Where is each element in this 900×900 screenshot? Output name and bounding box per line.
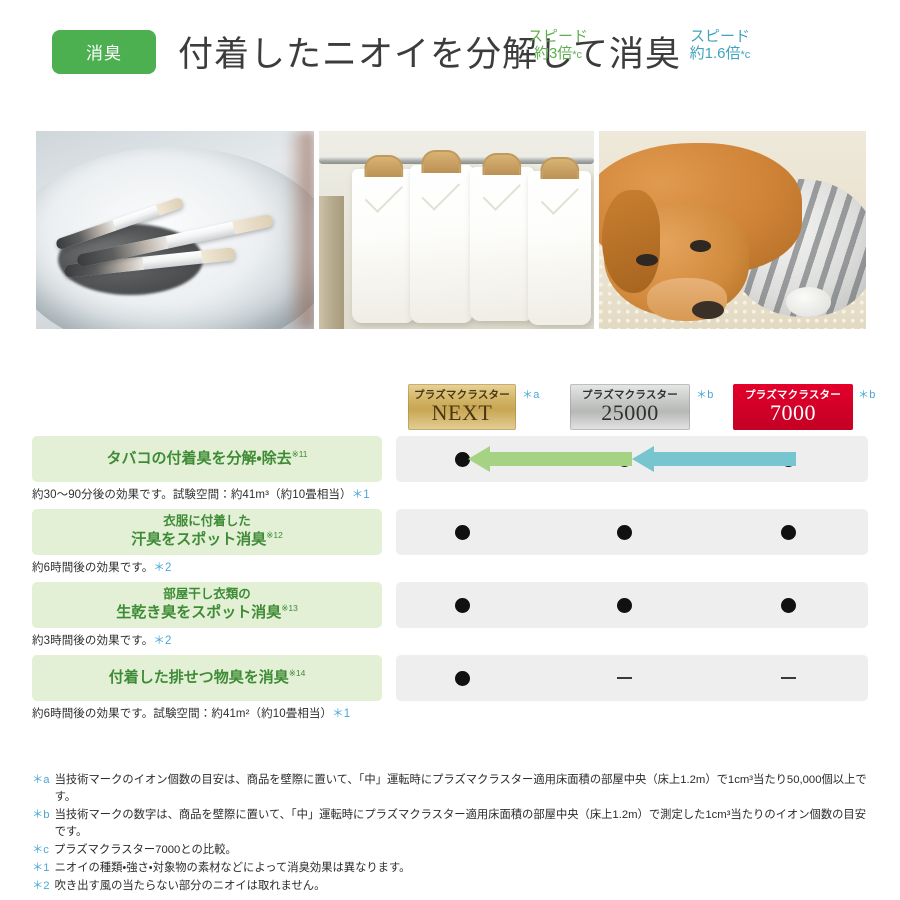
footnote-item: ＊c プラズマクラスター7000との比較。 [32, 842, 877, 859]
photo-edge-blur [286, 131, 314, 329]
speed-label-green: スピード 約3倍*c [498, 28, 618, 63]
footnote-mark: ＊c [32, 842, 49, 859]
cell-next [432, 655, 492, 701]
table-header-row: プラズマクラスター NEXT ＊a プラズマクラスター 25000 ＊b プラズ… [0, 380, 900, 436]
row-note-tobacco: 約30～90分後の効果です。試験空間：約41m³（約10畳相当）＊1 [32, 482, 900, 507]
product-badge-main: NEXT [432, 401, 493, 424]
footnote-item: ＊a 当技術マークのイオン個数の目安は、商品を壁際に置いて、「中」運転時にプラズ… [32, 772, 877, 806]
product-badge-25000: プラズマクラスター 25000 [570, 384, 690, 430]
footnote-item: ＊1 ニオイの種類・強さ・対象物の素材などによって消臭効果は異なります。 [32, 860, 877, 877]
table-row: 部屋干し衣類の 生乾き臭をスポット消臭※13 約3時間後の効果です。＊2 [0, 582, 900, 653]
support-dot-icon [617, 598, 632, 613]
row-note-damp-laundry: 約3時間後の効果です。＊2 [32, 628, 900, 653]
row-label-text: 付着した排せつ物臭を消臭※14 [109, 668, 306, 688]
product-badge-main: 7000 [770, 401, 816, 424]
footnote-text: ニオイの種類・強さ・対象物の素材などによって消臭効果は異なります。 [55, 860, 877, 877]
speed-label-blue: スピード 約1.6倍*c [660, 28, 780, 63]
row-cells [396, 655, 868, 701]
product-badge-next: プラズマクラスター NEXT [408, 384, 516, 430]
footnote-text: 当技術マークのイオン個数の目安は、商品を壁際に置いて、「中」運転時にプラズマクラ… [55, 772, 877, 806]
row-label-text: タバコの付着臭を分解・除去※11 [106, 449, 307, 469]
footnote-mark: ＊2 [32, 878, 50, 895]
product-badge-main: 25000 [601, 401, 659, 424]
photo-white-shirts-on-hangers [319, 131, 594, 329]
support-dot-icon [455, 452, 470, 467]
shirt-icon [528, 171, 591, 325]
row-cells [396, 509, 868, 555]
table-row: 衣服に付着した 汗臭をスポット消臭※12 約6時間後の効果です。＊2 [0, 509, 900, 580]
dog-eye [690, 240, 711, 252]
row-label-tobacco: タバコの付着臭を分解・除去※11 [32, 436, 382, 482]
not-supported-dash-icon [781, 677, 796, 679]
footnotes: ＊a 当技術マークのイオン個数の目安は、商品を壁際に置いて、「中」運転時にプラズ… [32, 772, 877, 896]
dog-ear-icon [602, 190, 661, 293]
row-label-sub: 部屋干し衣類の [163, 587, 251, 603]
shirt-icon [410, 165, 473, 323]
product-note-b-7000: ＊b [858, 386, 876, 402]
support-dot-icon [455, 671, 470, 686]
photo-strip [36, 131, 866, 329]
product-badge-7000: プラズマクラスター 7000 [733, 384, 853, 430]
row-label-text: 汗臭をスポット消臭※12 [131, 530, 283, 550]
row-cells [396, 436, 868, 482]
footnote-text: 当技術マークの数字は、商品を壁際に置いて、「中」運転時にプラズマクラスター適用床… [55, 807, 877, 841]
infographic-page: 消臭 付着したニオイを分解して消臭 [0, 0, 900, 900]
row-note-sweat: 約6時間後の効果です。＊2 [32, 555, 900, 580]
footnote-mark: ＊a [32, 772, 50, 806]
table-row: タバコの付着臭を分解・除去※11 約30～90分後の効果です [0, 436, 900, 507]
row-label-sub: 衣服に付着した [163, 514, 251, 530]
not-supported-dash-icon [617, 677, 632, 679]
cell-next [432, 436, 492, 482]
support-dot-icon [617, 525, 632, 540]
dog-eye [636, 254, 657, 266]
support-dot-icon [781, 525, 796, 540]
footnote-mark: ＊1 [32, 860, 50, 877]
footnote-text: プラズマクラスター7000との比較。 [54, 842, 877, 859]
comparison-table: プラズマクラスター NEXT ＊a プラズマクラスター 25000 ＊b プラズ… [0, 380, 900, 728]
row-note-excrement: 約6時間後の効果です。試験空間：約41m²（約10畳相当）＊1 [32, 701, 900, 726]
cell-7000 [758, 436, 818, 482]
photo-dog-and-cat-on-carpet [599, 131, 866, 329]
table-row: 付着した排せつ物臭を消臭※14 約6時間後の効果です。試験空間：約41m²（約1… [0, 655, 900, 726]
cell-next [432, 582, 492, 628]
support-dot-icon [455, 525, 470, 540]
product-note-a: ＊a [522, 386, 540, 402]
cell-25000 [594, 655, 654, 701]
photo-ashtray-with-cigarettes [36, 131, 314, 329]
row-label-text: 生乾き臭をスポット消臭※13 [116, 603, 298, 623]
row-label-excrement: 付着した排せつ物臭を消臭※14 [32, 655, 382, 701]
footnote-item: ＊b 当技術マークの数字は、商品を壁際に置いて、「中」運転時にプラズマクラスター… [32, 807, 877, 841]
cell-25000 [594, 436, 654, 482]
cell-next [432, 509, 492, 555]
footnote-item: ＊2 吹き出す風の当たらない部分のニオイは取れません。 [32, 878, 877, 895]
shirt-icon [352, 169, 415, 323]
cell-25000 [594, 509, 654, 555]
side-garment [319, 196, 344, 329]
support-dot-icon [455, 598, 470, 613]
product-note-b-25000: ＊b [696, 386, 714, 402]
support-dot-icon [781, 598, 796, 613]
header-category-badge: 消臭 [52, 30, 156, 74]
shirt-icon [470, 167, 533, 321]
footnote-mark: ＊b [32, 807, 50, 841]
row-label-sweat: 衣服に付着した 汗臭をスポット消臭※12 [32, 509, 382, 555]
support-dot-icon [617, 452, 632, 467]
cell-25000 [594, 582, 654, 628]
cell-7000 [758, 655, 818, 701]
support-dot-icon [781, 452, 796, 467]
row-cells [396, 582, 868, 628]
cell-7000 [758, 582, 818, 628]
row-label-damp-laundry: 部屋干し衣類の 生乾き臭をスポット消臭※13 [32, 582, 382, 628]
cell-7000 [758, 509, 818, 555]
footnote-text: 吹き出す風の当たらない部分のニオイは取れません。 [55, 878, 877, 895]
